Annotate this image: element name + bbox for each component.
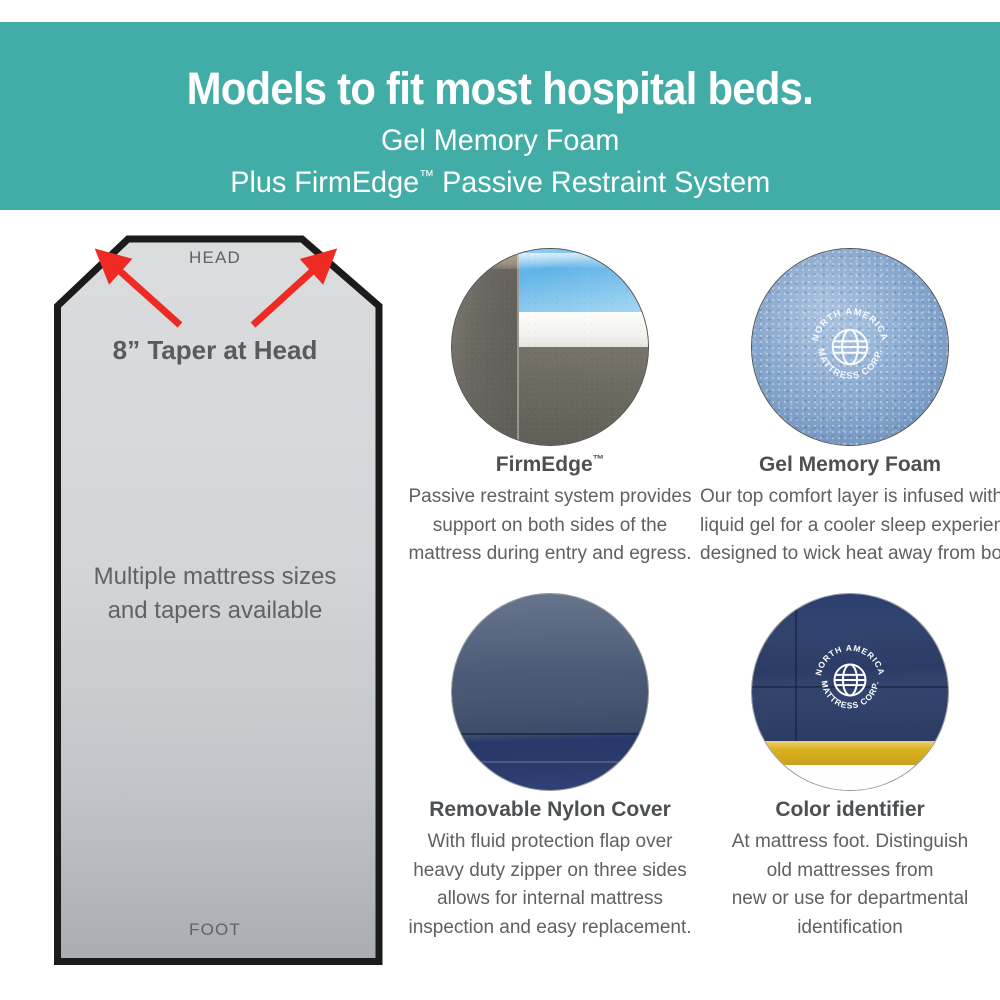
- feature-description-line: mattress during entry and egress.: [400, 540, 700, 569]
- header-subtitle-line2-pre: Plus FirmEdge: [230, 166, 419, 199]
- feature-description: At mattress foot. Distinguish old mattre…: [700, 828, 1000, 942]
- firmedge-photo-circle: [451, 248, 649, 446]
- feature-description: With fluid protection flap over heavy du…: [400, 828, 700, 942]
- feature-grid: FirmEdge™ Passive restraint system provi…: [400, 240, 1000, 960]
- feature-title-text: Color identifier: [775, 798, 924, 821]
- nylon-highlight: [452, 594, 648, 676]
- logo-top-arc-text: NORTH AMERICA: [810, 306, 890, 342]
- feature-title-text: FirmEdge: [496, 453, 593, 476]
- mattress-sizes-label: Multiple mattress sizes and tapers avail…: [50, 560, 380, 628]
- foam-grain-texture: [452, 249, 648, 445]
- feature-image-holder: NORTH AMERICA MATTRESS CORP.: [700, 585, 1000, 785]
- feature-title: Gel Memory Foam: [700, 452, 1000, 477]
- feature-description-line: liquid gel for a cooler sleep experience: [700, 512, 1000, 541]
- head-label: HEAD: [50, 248, 380, 268]
- nylon-cover-photo-circle: [451, 593, 649, 791]
- feature-firmedge: FirmEdge™ Passive restraint system provi…: [400, 240, 700, 569]
- feature-description-line: inspection and easy replacement.: [400, 914, 700, 943]
- nylon-zipper-line: [452, 761, 648, 763]
- feature-title-text: Gel Memory Foam: [759, 453, 941, 476]
- feature-description-line: old mattresses from: [700, 857, 1000, 886]
- mattress-sizes-line2: and tapers available: [108, 597, 323, 624]
- foot-label: FOOT: [50, 920, 380, 940]
- feature-description-line: identification: [700, 914, 1000, 943]
- feature-title: Color identifier: [700, 797, 1000, 822]
- taper-label: 8” Taper at Head: [50, 335, 380, 366]
- north-america-mattress-corp-logo: NORTH AMERICA MATTRESS CORP.: [802, 299, 898, 395]
- globe-icon: [835, 665, 866, 696]
- feature-title: Removable Nylon Cover: [400, 797, 700, 822]
- header-subtitle-line2: Plus FirmEdge™ Passive Restraint System: [230, 168, 770, 198]
- feature-color-identifier: NORTH AMERICA MATTRESS CORP. Color ident…: [700, 585, 1000, 942]
- feature-title-text: Removable Nylon Cover: [429, 798, 671, 821]
- gel-foam-photo-circle: NORTH AMERICA MATTRESS CORP.: [751, 248, 949, 446]
- color-identifier-photo: NORTH AMERICA MATTRESS CORP.: [752, 594, 948, 790]
- firmedge-foam-photo: [452, 249, 648, 445]
- cover-vertical-seam: [795, 594, 797, 741]
- feature-description-line: Our top comfort layer is infused with: [700, 483, 1000, 512]
- trademark-icon: ™: [419, 168, 434, 185]
- feature-removable-nylon-cover: Removable Nylon Cover With fluid protect…: [400, 585, 700, 942]
- feature-description-line: new or use for departmental: [700, 885, 1000, 914]
- feature-description-line: With fluid protection flap over: [400, 828, 700, 857]
- header-banner: Models to fit most hospital beds. Gel Me…: [0, 22, 1000, 210]
- feature-description: Our top comfort layer is infused with li…: [700, 483, 1000, 569]
- feature-description-line: designed to wick heat away from body: [700, 540, 1000, 569]
- feature-description-line: allows for internal mattress: [400, 885, 700, 914]
- color-identifier-photo-circle: NORTH AMERICA MATTRESS CORP.: [751, 593, 949, 791]
- feature-title: FirmEdge™: [400, 452, 700, 477]
- header-subtitle-line2-post: Passive Restraint System: [434, 166, 770, 199]
- infographic-page: Models to fit most hospital beds. Gel Me…: [0, 0, 1000, 1000]
- globe-icon: [833, 330, 868, 365]
- feature-image-holder: NORTH AMERICA MATTRESS CORP.: [700, 240, 1000, 440]
- header-subtitle-line1: Gel Memory Foam: [381, 126, 619, 156]
- logo-top-arc-text: NORTH AMERICA: [813, 643, 887, 677]
- feature-gel-memory-foam: NORTH AMERICA MATTRESS CORP. Gel Memory …: [700, 240, 1000, 569]
- page-headline: Models to fit most hospital beds.: [187, 66, 813, 111]
- mattress-diagram: HEAD 8” Taper at Head Multiple mattress …: [50, 230, 390, 970]
- north-america-mattress-corp-logo: NORTH AMERICA MATTRESS CORP.: [807, 637, 893, 723]
- feature-image-holder: [400, 240, 700, 440]
- trademark-icon: ™: [593, 454, 605, 466]
- gel-foam-photo: NORTH AMERICA MATTRESS CORP.: [752, 249, 948, 445]
- feature-description-line: support on both sides of the: [400, 512, 700, 541]
- background-area: [752, 765, 948, 790]
- feature-image-holder: [400, 585, 700, 785]
- nylon-cover-photo: [452, 594, 648, 790]
- feature-description-line: heavy duty zipper on three sides: [400, 857, 700, 886]
- gold-band-highlight: [752, 741, 948, 749]
- feature-description-line: At mattress foot. Distinguish: [700, 828, 1000, 857]
- feature-description: Passive restraint system provides suppor…: [400, 483, 700, 569]
- mattress-sizes-line1: Multiple mattress sizes: [94, 563, 337, 590]
- feature-description-line: Passive restraint system provides: [400, 483, 700, 512]
- nylon-seam: [452, 733, 648, 735]
